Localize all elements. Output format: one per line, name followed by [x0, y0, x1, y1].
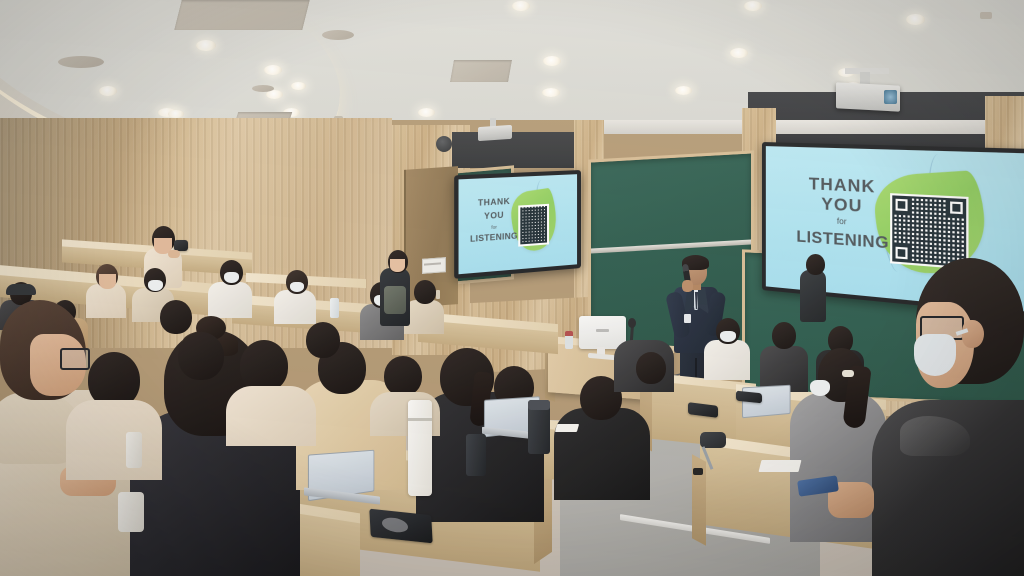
ceiling-vent-round: [58, 56, 104, 68]
chair-base: [693, 468, 703, 475]
face-mask: [148, 280, 163, 291]
downlight: [675, 86, 692, 95]
audience-person: [554, 408, 650, 500]
audience-person: [704, 340, 750, 380]
face-mask: [224, 272, 239, 283]
thermos-bottle: [126, 432, 142, 468]
downlight: [744, 1, 762, 11]
door-handle[interactable]: [436, 290, 440, 299]
left-projection-screen: THANK YOU for LISTENING: [454, 170, 581, 279]
downlight: [291, 82, 306, 90]
audience-person: [66, 400, 162, 480]
dark-beam-middle: [452, 132, 582, 168]
ceiling-vent-round: [252, 85, 274, 92]
lecture-hall-photo: THANK YOU for LISTENING THANK YOU for LI…: [0, 0, 1024, 576]
audience-head: [240, 340, 288, 392]
downlight: [543, 56, 561, 66]
tumbler: [466, 434, 486, 476]
downlight: [99, 86, 117, 96]
audience-head: [306, 322, 340, 358]
presenter-hand: [682, 280, 693, 292]
face-mask: [720, 331, 736, 342]
audience-head: [414, 280, 436, 304]
downlight: [542, 88, 560, 97]
downlight: [418, 108, 435, 117]
standing-woman-face: [390, 259, 405, 272]
slide-line-listening: LISTENING: [461, 232, 526, 245]
water-bottle: [565, 331, 573, 349]
audience-person: [86, 284, 126, 318]
face-mask: [914, 334, 956, 376]
hair-tie: [842, 370, 854, 377]
thermos-ring: [408, 418, 432, 421]
downlight: [264, 65, 282, 75]
audience-head: [178, 332, 224, 380]
qr-eye: [948, 200, 965, 217]
paper-handout: [555, 424, 579, 432]
audience-person: [404, 300, 444, 334]
audience-person: [208, 282, 252, 318]
projector-left: [478, 125, 512, 141]
ceiling-fascia-strip: [600, 120, 1024, 134]
door-sign-plate: [422, 257, 446, 274]
downlight: [512, 1, 530, 11]
slide-left: THANK YOU for LISTENING: [459, 174, 578, 274]
downlight: [168, 110, 184, 118]
monitor-brand-logo: [596, 329, 609, 332]
presenter-name-badge: [684, 314, 691, 323]
water-bottle: [330, 298, 339, 318]
standing-woman-bag: [384, 286, 406, 314]
ceiling-speaker: [436, 136, 452, 152]
projector-lens: [884, 90, 897, 104]
smoke-detector: [980, 12, 992, 19]
eyeglasses: [60, 348, 90, 370]
downlight: [906, 14, 925, 25]
audience-person: [226, 386, 316, 446]
qr-code: [893, 196, 967, 267]
thermos-cap: [408, 400, 432, 416]
audience-person: [274, 290, 316, 324]
face-mask: [290, 282, 304, 292]
cap-hat: [6, 284, 36, 295]
thermos-bottle: [118, 492, 144, 532]
audience-head: [772, 322, 796, 349]
paper-handout: [759, 460, 802, 472]
audience-person: [800, 270, 826, 322]
chalkboard-rail: [591, 240, 751, 254]
ceiling-vent: [174, 0, 309, 30]
audience-head: [636, 352, 666, 384]
audience-head: [806, 254, 825, 275]
ceiling-vent-round: [322, 30, 354, 40]
foreground-man-ear: [962, 320, 984, 348]
downlight: [730, 48, 748, 58]
audience-head: [384, 356, 422, 396]
standing-student-hand: [168, 250, 180, 258]
gooseneck-microphone-head: [628, 318, 636, 328]
face-mask: [810, 380, 830, 396]
tumbler-lid: [528, 400, 550, 410]
audience-face: [99, 274, 116, 289]
ceiling-vent: [450, 60, 512, 82]
downlight: [196, 40, 216, 51]
audience-head: [160, 300, 192, 334]
